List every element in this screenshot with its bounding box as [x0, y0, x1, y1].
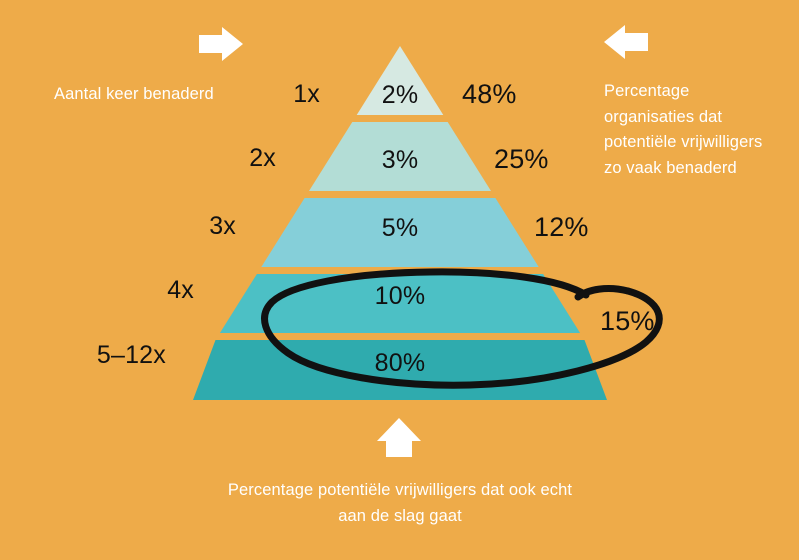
- arrow-up-icon: [377, 418, 421, 457]
- band-value-4: 10%: [350, 284, 450, 309]
- arrow-right-icon: [199, 27, 243, 61]
- org-percent-4-highlighted: 15%: [600, 308, 710, 335]
- infographic-canvas: 1x 2x 3x 4x 5–12x 2% 3% 5% 10% 80% 48% 2…: [0, 0, 799, 560]
- step-label-5-12x: 5–12x: [40, 343, 166, 368]
- org-percent-1: 48%: [462, 81, 572, 108]
- band-value-2: 3%: [350, 148, 450, 173]
- note-bottom-volunteers: Percentage potentiële vrijwilligers dat …: [160, 478, 640, 529]
- org-percent-3: 12%: [534, 214, 644, 241]
- org-percent-2: 25%: [494, 146, 604, 173]
- step-label-4x: 4x: [126, 278, 194, 303]
- band-value-3: 5%: [350, 216, 450, 241]
- note-left-approach-count: Aantal keer benaderd: [54, 82, 294, 108]
- step-label-2x: 2x: [208, 146, 276, 171]
- band-value-5: 80%: [350, 351, 450, 376]
- arrow-left-icon: [604, 25, 648, 59]
- band-value-1: 2%: [350, 83, 450, 108]
- note-right-organisations: Percentage organisaties dat potentiële v…: [604, 79, 794, 181]
- step-label-3x: 3x: [168, 214, 236, 239]
